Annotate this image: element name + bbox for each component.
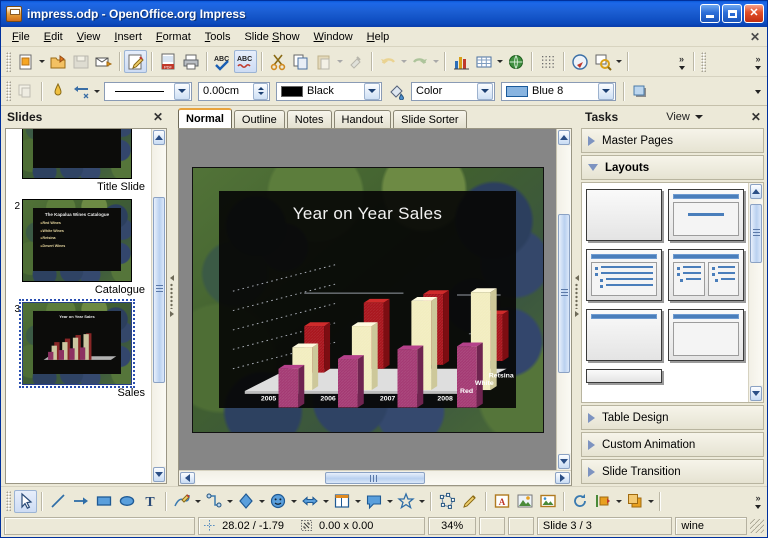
display-grid-icon[interactable] xyxy=(536,50,559,73)
triangle-right-icon xyxy=(588,413,595,423)
menu-item-edit[interactable]: Edit xyxy=(37,29,70,45)
menu-item-help[interactable]: Help xyxy=(360,29,397,45)
scrollbar-thumb[interactable] xyxy=(750,204,762,263)
thumb-bullet: Red Wines xyxy=(41,220,122,228)
window-title: impress.odp - OpenOffice.org Impress xyxy=(27,7,700,21)
slide-thumbnail-list[interactable]: Fine wines from Dutch Island Vineyards T… xyxy=(6,129,151,483)
maximize-button[interactable] xyxy=(722,4,742,23)
resize-grip[interactable] xyxy=(750,519,764,533)
copy-icon[interactable] xyxy=(289,50,312,73)
area-style-icon[interactable] xyxy=(385,80,408,103)
layouts-grid xyxy=(582,183,748,402)
tasks-panel-header: Tasks View ✕ xyxy=(579,106,767,128)
accordion-label: Master Pages xyxy=(602,135,673,147)
status-measurements: 28.02 / -1.79 0.00 x 0.00 xyxy=(198,517,425,535)
drawing-toolbar-overflow[interactable]: » xyxy=(751,489,765,514)
thumb-title: Year on Year Sales xyxy=(33,311,122,319)
autospellcheck-icon[interactable]: ABC xyxy=(234,50,257,73)
z-tick-red: Red xyxy=(460,388,473,395)
line-and-filling-toolbar: 0.00cm Black Color xyxy=(1,76,767,105)
list-item[interactable]: 3 Year on Year Sales xyxy=(6,299,151,402)
close-icon[interactable]: ✕ xyxy=(751,110,761,124)
impress-document-icon xyxy=(6,6,22,22)
spinner-buttons[interactable] xyxy=(253,83,268,100)
stars-icon[interactable] xyxy=(394,490,417,513)
fill-color-value: Blue 8 xyxy=(532,85,563,97)
slide-counter: Slide 3 / 3 xyxy=(537,517,672,535)
fill-type-select[interactable]: Color xyxy=(411,82,495,101)
select-icon[interactable] xyxy=(14,490,37,513)
impress-window: impress.odp - OpenOffice.org Impress ✕ F… xyxy=(0,0,768,538)
line-icon[interactable] xyxy=(46,490,69,513)
triangle-right-icon xyxy=(588,136,595,146)
toolbar-grip-3[interactable] xyxy=(6,81,11,101)
x-tick-2005: 2005 xyxy=(261,396,277,403)
partial-layout[interactable] xyxy=(586,369,662,383)
thumb-chart xyxy=(33,321,122,365)
alignment-icon[interactable] xyxy=(591,490,614,513)
title-bar: impress.odp - OpenOffice.org Impress ✕ xyxy=(1,1,767,27)
paste-icon[interactable] xyxy=(312,50,335,73)
triangle-right-icon xyxy=(588,467,595,477)
block-arrows-icon[interactable] xyxy=(298,490,321,513)
svg-text:A: A xyxy=(498,497,505,507)
tab-handout[interactable]: Handout xyxy=(334,110,392,128)
cut-icon[interactable] xyxy=(266,50,289,73)
callouts-dropdown-arrow[interactable] xyxy=(385,490,394,513)
slide-properties-icon[interactable] xyxy=(14,80,37,103)
rectangle-icon[interactable] xyxy=(92,490,115,513)
title-only-layout[interactable] xyxy=(586,309,662,361)
fill-color-swatch xyxy=(506,86,528,97)
arrange-dropdown-arrow[interactable] xyxy=(646,490,655,513)
slide-caption: Catalogue xyxy=(22,282,149,299)
scroll-down-button[interactable] xyxy=(558,454,570,469)
line-color-select[interactable]: Black xyxy=(276,82,382,101)
svg-text:PDF: PDF xyxy=(164,64,173,69)
status-info xyxy=(4,517,195,535)
accordion-master-pages[interactable]: Master Pages xyxy=(581,128,764,153)
scroll-right-button[interactable] xyxy=(555,472,570,484)
slide-caption: Title Slide xyxy=(22,179,149,196)
navigator-icon[interactable] xyxy=(568,50,591,73)
thumb-bullet: Retsina xyxy=(41,235,122,243)
slide-thumbnail[interactable]: Fine wines from Dutch Island Vineyards xyxy=(22,129,132,179)
tab-slide-sorter[interactable]: Slide Sorter xyxy=(393,110,466,128)
line-style-value xyxy=(105,91,174,92)
zoom-dropdown-arrow[interactable] xyxy=(614,50,623,73)
chevron-down-icon[interactable] xyxy=(695,115,703,119)
z-tick-white: White xyxy=(475,381,494,388)
line-style-select[interactable] xyxy=(104,82,192,101)
glue-points-icon[interactable] xyxy=(458,490,481,513)
layouts-gallery[interactable] xyxy=(581,182,764,403)
redo-icon[interactable] xyxy=(408,50,431,73)
save-icon[interactable] xyxy=(69,50,92,73)
new-icon[interactable] xyxy=(14,50,37,73)
tasks-panel-body: Master Pages Layouts xyxy=(581,128,764,484)
email-icon[interactable] xyxy=(92,50,115,73)
scroll-down-button[interactable] xyxy=(153,467,165,482)
basic-shapes-dropdown-arrow[interactable] xyxy=(257,490,266,513)
rotate-icon[interactable] xyxy=(568,490,591,513)
symbol-shapes-icon[interactable] xyxy=(266,490,289,513)
chevron-down-icon[interactable] xyxy=(598,83,614,100)
flowchart-icon[interactable] xyxy=(330,490,353,513)
menu-item-window[interactable]: Window xyxy=(307,29,360,45)
title-two-content-layout[interactable] xyxy=(668,249,744,301)
scrollbar-track[interactable] xyxy=(152,146,166,466)
window-controls: ✕ xyxy=(700,4,764,23)
crosshair-icon xyxy=(204,520,215,531)
chevron-down-icon[interactable] xyxy=(174,83,190,100)
title-object-layout[interactable] xyxy=(668,309,744,361)
slide-edit-area: Year on Year Sales xyxy=(178,128,572,486)
view-tab-bar: Normal Outline Notes Handout Slide Sorte… xyxy=(174,106,574,128)
slide-number: 2 xyxy=(8,199,22,212)
status-bar: 28.02 / -1.79 0.00 x 0.00 34% Slide 3 / … xyxy=(1,515,767,537)
slides-panel-body: Fine wines from Dutch Island Vineyards T… xyxy=(5,128,167,484)
line-toolbar-overflow[interactable] xyxy=(751,79,765,104)
standard-toolbar-overflow-2[interactable]: » xyxy=(751,49,765,74)
line-color-icon[interactable] xyxy=(46,80,69,103)
scroll-up-button[interactable] xyxy=(153,130,165,145)
ellipse-icon[interactable] xyxy=(115,490,138,513)
slides-panel-header: Slides ✕ xyxy=(1,106,169,128)
close-document-button[interactable]: ✕ xyxy=(750,30,760,44)
size-icon xyxy=(301,520,312,531)
view-label[interactable]: View xyxy=(666,111,690,123)
stars-dropdown-arrow[interactable] xyxy=(417,490,426,513)
accordion-label: Custom Animation xyxy=(602,439,695,451)
object-size: 0.00 x 0.00 xyxy=(319,520,373,532)
triangle-down-icon xyxy=(588,164,598,171)
toolbar-grip[interactable] xyxy=(6,52,11,72)
title-content-layout[interactable] xyxy=(668,189,744,241)
z-tick-retsina: Retsina xyxy=(488,373,513,380)
undo-dropdown-arrow[interactable] xyxy=(399,50,408,73)
tab-outline[interactable]: Outline xyxy=(234,110,285,128)
points-icon[interactable] xyxy=(435,490,458,513)
accordion-custom-animation[interactable]: Custom Animation xyxy=(581,432,764,457)
scrollbar-thumb[interactable] xyxy=(325,472,425,484)
list-item[interactable]: Fine wines from Dutch Island Vineyards T… xyxy=(6,129,151,196)
clone-formatting-icon[interactable] xyxy=(344,50,367,73)
thumbnail-content: The Kapalua Wines Catalogue Red Wines Wh… xyxy=(33,208,122,271)
menu-item-slide-show[interactable]: Slide Show xyxy=(237,29,306,45)
svg-text:T: T xyxy=(145,495,155,510)
accordion-slide-transition[interactable]: Slide Transition xyxy=(581,459,764,484)
scroll-up-button[interactable] xyxy=(750,184,762,199)
menu-item-format[interactable]: Format xyxy=(149,29,198,45)
toolbar-grip-4[interactable] xyxy=(6,491,11,511)
slide-caption: Sales xyxy=(22,385,149,402)
menu-item-view[interactable]: View xyxy=(70,29,108,45)
shadow-icon[interactable] xyxy=(628,80,651,103)
undo-icon[interactable] xyxy=(376,50,399,73)
triangle-right-icon xyxy=(588,440,595,450)
editor-area: Normal Outline Notes Handout Slide Sorte… xyxy=(174,106,574,486)
drawing-toolbar: T A xyxy=(1,486,767,515)
slides-panel: Slides ✕ Fine wines from Dutch Isla xyxy=(1,106,169,486)
cursor-position: 28.02 / -1.79 xyxy=(222,520,284,532)
open-icon[interactable] xyxy=(46,50,69,73)
accordion-table-design[interactable]: Table Design xyxy=(581,405,764,430)
menu-bar: File Edit View Insert Format Tools Slide… xyxy=(1,27,767,47)
title-bullets-layout[interactable] xyxy=(586,249,662,301)
export-pdf-icon[interactable]: PDF xyxy=(156,50,179,73)
symbol-shapes-dropdown-arrow[interactable] xyxy=(289,490,298,513)
close-icon[interactable]: ✕ xyxy=(153,110,163,124)
chart-icon[interactable] xyxy=(449,50,472,73)
canvas-horizontal-scrollbar[interactable] xyxy=(179,470,571,485)
tab-normal[interactable]: Normal xyxy=(178,108,232,128)
x-tick-2007: 2007 xyxy=(380,396,396,403)
arrow-style-dropdown-arrow[interactable] xyxy=(92,80,101,103)
fontwork-icon[interactable]: A xyxy=(490,490,513,513)
toolbar-grip-2[interactable] xyxy=(701,52,706,72)
print-icon[interactable] xyxy=(179,50,202,73)
zoom-icon[interactable] xyxy=(591,50,614,73)
scrollbar-thumb[interactable] xyxy=(558,214,570,374)
arrow-style-icon[interactable] xyxy=(69,80,92,103)
modified-indicator xyxy=(479,517,505,535)
connector-icon[interactable] xyxy=(202,490,225,513)
table-dropdown-arrow[interactable] xyxy=(495,50,504,73)
minimize-button[interactable] xyxy=(700,4,720,23)
callouts-icon[interactable] xyxy=(362,490,385,513)
curve-icon[interactable] xyxy=(170,490,193,513)
scroll-left-button[interactable] xyxy=(180,472,195,484)
scroll-down-button[interactable] xyxy=(750,386,762,401)
thumb-bullet: Desert Wines xyxy=(41,243,122,251)
paste-dropdown-arrow[interactable] xyxy=(335,50,344,73)
line-color-swatch xyxy=(281,86,303,97)
scroll-up-button[interactable] xyxy=(558,130,570,145)
chevron-down-icon[interactable] xyxy=(477,83,493,100)
slide-thumbnail-selected[interactable]: Year on Year Sales xyxy=(22,302,132,385)
basic-shapes-icon[interactable] xyxy=(234,490,257,513)
scrollbar-track[interactable] xyxy=(557,146,571,453)
tasks-panel-title: Tasks xyxy=(585,110,618,124)
current-slide[interactable]: Year on Year Sales xyxy=(192,167,544,433)
arrange-icon[interactable] xyxy=(623,490,646,513)
thumbnail-content: Year on Year Sales xyxy=(33,311,122,374)
gallery-icon[interactable] xyxy=(536,490,559,513)
chart-object[interactable]: 2005 2006 2007 2008 Red Whi xyxy=(219,233,517,408)
zoom-level[interactable]: 34% xyxy=(428,517,476,535)
close-button[interactable]: ✕ xyxy=(744,4,764,23)
slides-panel-scrollbar[interactable] xyxy=(151,129,166,483)
alignment-dropdown-arrow[interactable] xyxy=(614,490,623,513)
accordion-label: Layouts xyxy=(605,162,649,174)
accordion-label: Slide Transition xyxy=(602,466,681,478)
slide-thumbnail[interactable]: The Kapalua Wines Catalogue Red Wines Wh… xyxy=(22,199,132,282)
curve-dropdown-arrow[interactable] xyxy=(193,490,202,513)
canvas-vertical-scrollbar[interactable] xyxy=(556,129,571,470)
list-item[interactable]: 2 The Kapalua Wines Catalogue Red Wines … xyxy=(6,196,151,299)
thumbnail-content: Fine wines from Dutch Island Vineyards xyxy=(33,129,122,168)
master-page-name: wine xyxy=(675,517,747,535)
menu-item-tools[interactable]: Tools xyxy=(198,29,238,45)
table-icon[interactable] xyxy=(472,50,495,73)
workspace: Slides ✕ Fine wines from Dutch Isla xyxy=(1,106,767,486)
thumb-bullet: White Wines xyxy=(41,228,122,236)
arrow-icon[interactable] xyxy=(69,490,92,513)
layouts-scrollbar[interactable] xyxy=(748,183,763,402)
slide-title[interactable]: Year on Year Sales xyxy=(219,191,517,224)
accordion-label: Table Design xyxy=(602,412,668,424)
fill-color-select[interactable]: Blue 8 xyxy=(501,82,616,101)
tasks-panel: Tasks View ✕ Master Pages Layouts xyxy=(579,106,767,486)
blank-layout[interactable] xyxy=(586,189,662,241)
line-width-value: 0.00cm xyxy=(199,85,253,97)
slides-panel-title: Slides xyxy=(7,110,42,124)
signature-indicator xyxy=(508,517,534,535)
hyperlink-icon[interactable] xyxy=(504,50,527,73)
tab-notes[interactable]: Notes xyxy=(287,110,332,128)
chevron-down-icon[interactable] xyxy=(364,83,380,100)
line-color-value: Black xyxy=(307,85,334,97)
slide-canvas[interactable]: Year on Year Sales xyxy=(179,129,556,470)
thumb-title: The Kapalua Wines Catalogue xyxy=(33,208,122,217)
slide-number: 3 xyxy=(8,302,22,315)
slide-content-panel: Year on Year Sales xyxy=(219,191,517,408)
connector-dropdown-arrow[interactable] xyxy=(225,490,234,513)
toolbars: PDF ABC ABC xyxy=(1,47,767,106)
standard-toolbar-overflow[interactable]: » xyxy=(675,49,689,74)
block-arrows-dropdown-arrow[interactable] xyxy=(321,490,330,513)
line-width-stepper[interactable]: 0.00cm xyxy=(198,82,270,101)
edit-file-icon[interactable] xyxy=(124,50,147,73)
scrollbar-thumb[interactable] xyxy=(153,197,165,383)
text-icon[interactable]: T xyxy=(138,490,161,513)
scrollbar-track[interactable] xyxy=(196,471,554,485)
menu-item-insert[interactable]: Insert xyxy=(107,29,149,45)
new-dropdown-arrow[interactable] xyxy=(37,50,46,73)
flowchart-dropdown-arrow[interactable] xyxy=(353,490,362,513)
thumb-bullets: Red Wines White Wines Retsina Desert Win… xyxy=(33,217,122,250)
scrollbar-track[interactable] xyxy=(749,200,763,385)
redo-dropdown-arrow[interactable] xyxy=(431,50,440,73)
fill-type-value: Color xyxy=(412,85,477,97)
accordion-layouts[interactable]: Layouts xyxy=(581,155,764,180)
svg-text:ABC: ABC xyxy=(237,56,252,63)
spelling-icon[interactable]: ABC xyxy=(211,50,234,73)
standard-toolbar: PDF ABC ABC xyxy=(1,47,767,76)
x-tick-2008: 2008 xyxy=(437,396,453,403)
from-file-icon[interactable] xyxy=(513,490,536,513)
x-tick-2006: 2006 xyxy=(320,396,336,403)
menu-item-file[interactable]: File xyxy=(5,29,37,45)
